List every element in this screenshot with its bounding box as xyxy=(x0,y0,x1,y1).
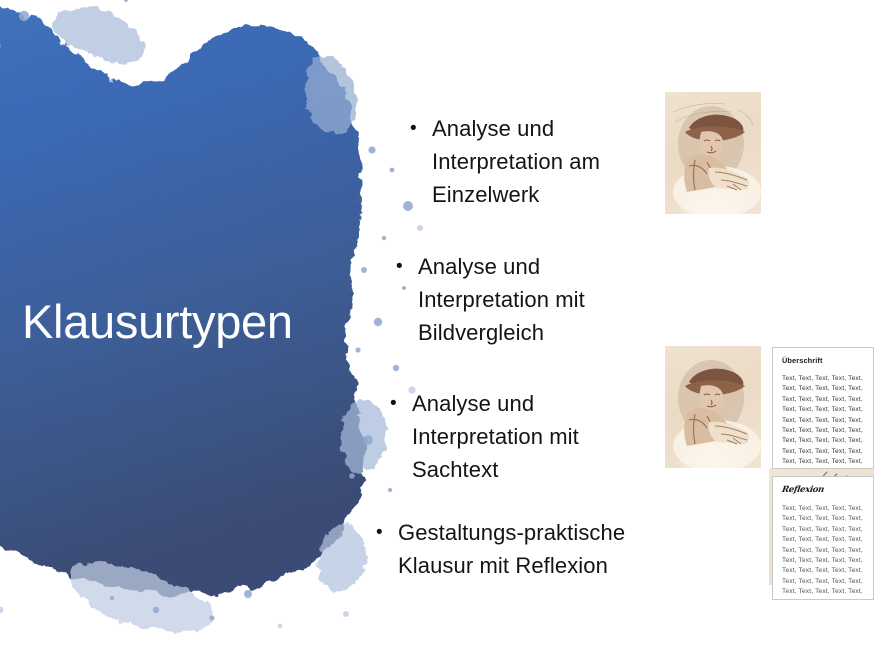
document-heading: Reflexion xyxy=(781,485,866,495)
text-document-ueberschrift: Überschrift Text, Text, Text, Text, Text… xyxy=(772,347,874,469)
document-line: Text, Text, Text, Text, Text, xyxy=(782,566,865,576)
bullet-text: Analyse und Interpretation mit Sachtext xyxy=(412,387,642,486)
document-line: Text, Text, Text, Text, Text, xyxy=(782,436,865,446)
document-line: Text, Text, Text, Text, Text, xyxy=(782,535,865,545)
document-line: Text, Text, Text, Text, Text, xyxy=(782,504,865,514)
bullet-list: • Analyse und Interpretation am Einzelwe… xyxy=(372,112,642,604)
sepia-drawing-boy-with-tricorn-hat-1 xyxy=(665,92,761,214)
bullet-marker-icon: • xyxy=(372,516,398,549)
document-line: Text, Text, Text, Text, Text, xyxy=(782,587,865,597)
bullet-marker-icon: • xyxy=(406,112,432,145)
document-line: Text, Text, Text, Text, Text, xyxy=(782,457,865,467)
list-item: • Analyse und Interpretation am Einzelwe… xyxy=(406,112,642,211)
text-document-reflexion: Reflexion Text, Text, Text, Text, Text, … xyxy=(772,476,874,600)
list-item: • Gestaltungs-praktische Klausur mit Ref… xyxy=(372,516,642,582)
bullet-text: Analyse und Interpretation mit Bildvergl… xyxy=(418,250,642,349)
document-line: Text, Text, Text, Text, Text, xyxy=(782,426,865,436)
document-line: Text, Text, Text, Text, Text, xyxy=(782,447,865,457)
list-item: • Analyse und Interpretation mit Sachtex… xyxy=(386,387,642,486)
document-line: Text, Text, Text, Text, Text. xyxy=(782,468,865,469)
bullet-marker-icon: • xyxy=(386,387,412,420)
document-heading: Überschrift xyxy=(782,356,865,365)
document-line: Text, Text, Text, Text, Text, xyxy=(782,546,865,556)
document-line: Text, Text, Text, Text, Text, xyxy=(782,514,865,524)
document-line: Text, Text, Text, Text, Text, xyxy=(782,405,865,415)
document-line: Text, Text, Text, Text, Text, xyxy=(782,556,865,566)
document-line: Text, Text, Text, Text, Text, xyxy=(782,416,865,426)
bullet-marker-icon: • xyxy=(392,250,418,283)
document-line: Text, Text, Text, Text, Text, xyxy=(782,577,865,587)
document-line: Text, Text, Text, Text, Text, xyxy=(782,525,865,535)
presentation-slide: Klausurtypen • Analyse und Interpretatio… xyxy=(0,0,881,661)
sepia-drawing-boy-with-tricorn-hat-2 xyxy=(665,346,761,468)
bullet-text: Gestaltungs-praktische Klausur mit Refle… xyxy=(398,516,642,582)
list-item: • Analyse und Interpretation mit Bildver… xyxy=(392,250,642,349)
document-line: Text, Text, Text, Text, Text, xyxy=(782,395,865,405)
document-line: Text, Text, Text, Text, Text, xyxy=(782,374,865,384)
document-line: Text, Text, Text, Text, Text, xyxy=(782,384,865,394)
slide-title: Klausurtypen xyxy=(22,296,402,348)
document-line: Text, Text, Text, Text, Text. xyxy=(782,598,865,600)
bullet-text: Analyse und Interpretation am Einzelwerk xyxy=(432,112,642,211)
